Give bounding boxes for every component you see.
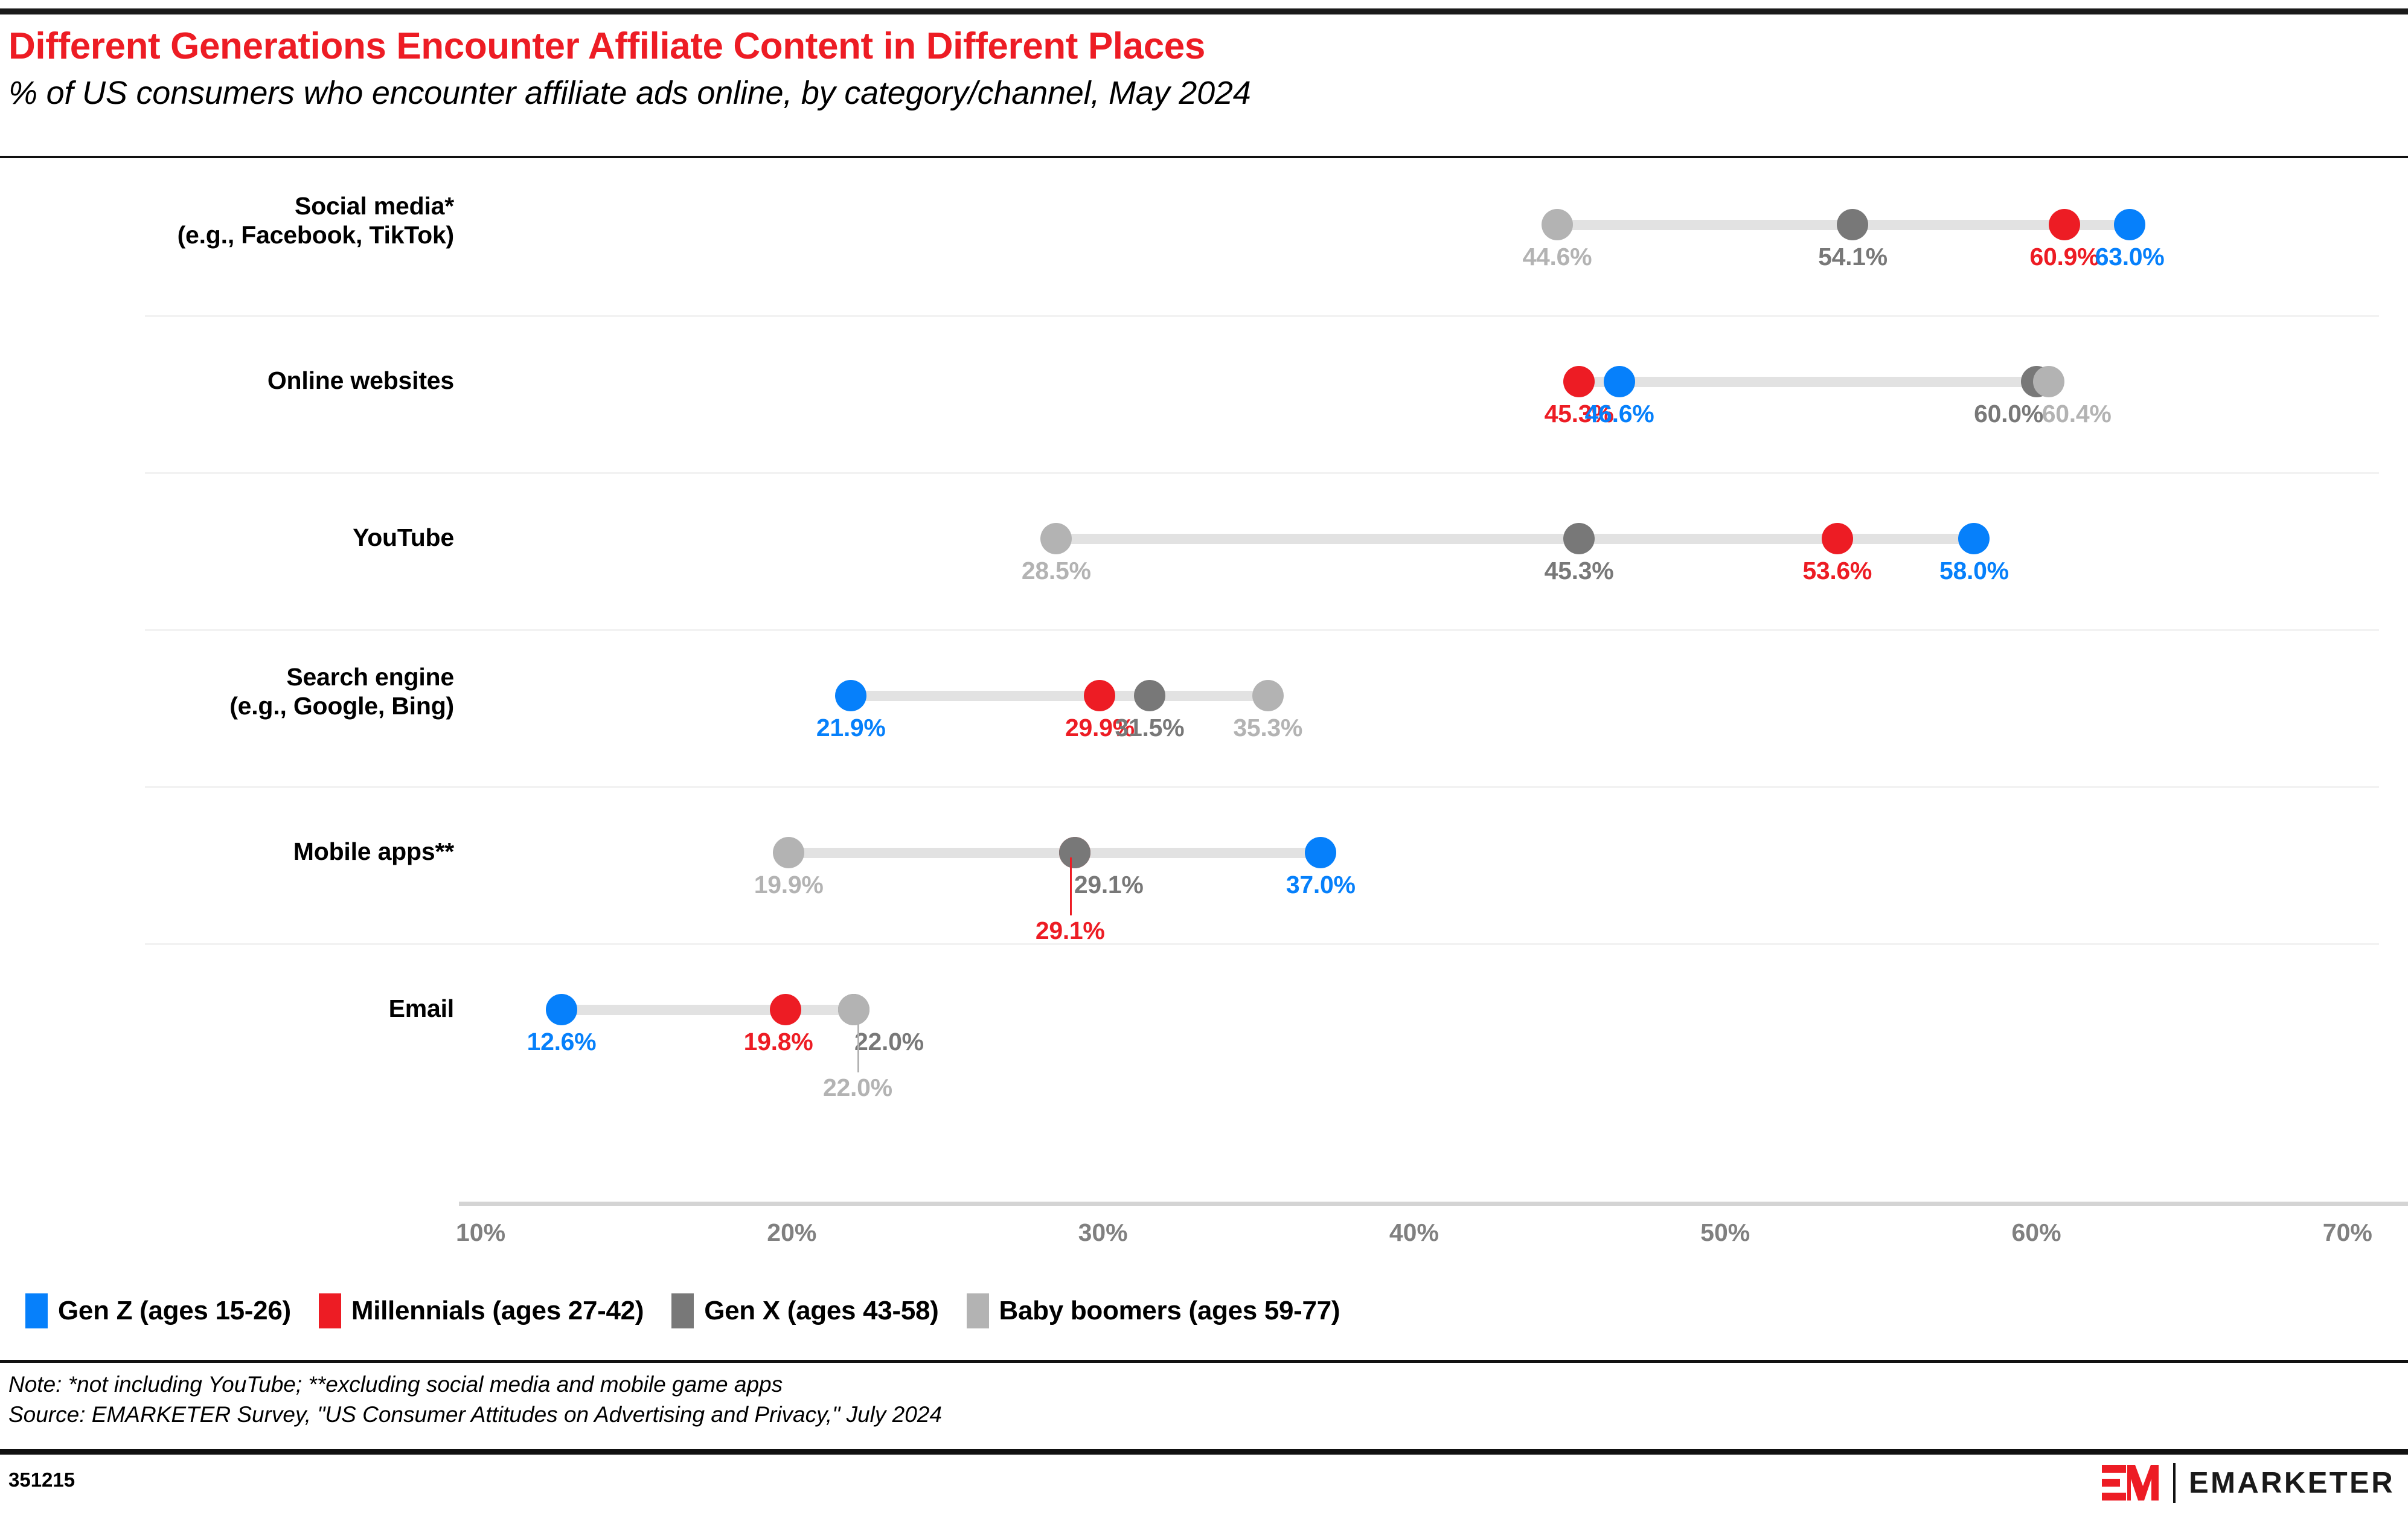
chart-row: Online websites45.3%46.6%60.0%60.4% xyxy=(0,315,2408,472)
data-point-genx[interactable] xyxy=(1059,837,1090,868)
category-label-line1: YouTube xyxy=(0,523,454,552)
value-label-boomer: 44.6% xyxy=(1523,243,1592,271)
value-label-boomer: 22.0% xyxy=(823,1074,892,1102)
row-separator xyxy=(145,943,2379,945)
value-label-mill: 53.6% xyxy=(1802,557,1872,585)
row-separator xyxy=(145,629,2379,631)
data-point-genz[interactable] xyxy=(835,680,866,711)
value-label-boomer: 19.9% xyxy=(754,871,824,899)
legend-label: Millennials (ages 27-42) xyxy=(351,1296,644,1326)
data-point-genz[interactable] xyxy=(2114,209,2145,240)
legend-swatch-icon xyxy=(25,1293,48,1328)
x-axis-line xyxy=(459,1202,2408,1206)
footnote-source: Source: EMARKETER Survey, "US Consumer A… xyxy=(8,1400,942,1430)
data-point-mill[interactable] xyxy=(1563,366,1595,397)
range-connector xyxy=(789,848,1321,858)
value-label-genx: 31.5% xyxy=(1115,714,1185,742)
footnote-note: Note: *not including YouTube; **excludin… xyxy=(8,1369,942,1400)
value-label-genz: 63.0% xyxy=(2095,243,2165,271)
data-point-boomer[interactable] xyxy=(1542,209,1573,240)
data-point-genx[interactable] xyxy=(1837,209,1868,240)
legend-label: Gen Z (ages 15-26) xyxy=(58,1296,291,1326)
legend-item-boomer[interactable]: Baby boomers (ages 59-77) xyxy=(967,1293,1340,1328)
data-point-boomer[interactable] xyxy=(2033,366,2064,397)
value-label-genz: 46.6% xyxy=(1585,400,1654,428)
value-label-genz: 58.0% xyxy=(1939,557,2009,585)
em-monogram-icon xyxy=(2102,1463,2160,1503)
data-point-genz[interactable] xyxy=(1305,837,1336,868)
value-leader-line xyxy=(857,1014,859,1072)
chart-title: Different Generations Encounter Affiliat… xyxy=(8,27,2363,67)
value-label-mill: 29.1% xyxy=(1036,917,1105,945)
category-label-line1: Email xyxy=(0,994,454,1023)
row-separator xyxy=(145,472,2379,474)
chart-legend: Gen Z (ages 15-26)Millennials (ages 27-4… xyxy=(25,1293,1340,1328)
data-point-boomer[interactable] xyxy=(838,994,869,1025)
category-label-line2: (e.g., Google, Bing) xyxy=(0,691,454,720)
value-label-boomer: 35.3% xyxy=(1233,714,1302,742)
brand-wordmark: EMARKETER xyxy=(2189,1466,2395,1500)
value-label-boomer: 60.4% xyxy=(2042,400,2112,428)
top-rule xyxy=(0,8,2408,14)
value-label-genx: 22.0% xyxy=(854,1028,924,1056)
x-axis-tick-label: 40% xyxy=(1389,1219,1439,1247)
value-label-mill: 19.8% xyxy=(744,1028,813,1056)
x-axis-tick-label: 60% xyxy=(2011,1219,2061,1247)
value-label-genz: 21.9% xyxy=(816,714,886,742)
x-axis-tick-label: 10% xyxy=(456,1219,505,1247)
data-point-mill[interactable] xyxy=(770,994,801,1025)
legend-label: Baby boomers (ages 59-77) xyxy=(999,1296,1340,1326)
category-label: Mobile apps** xyxy=(0,837,454,866)
legend-swatch-icon xyxy=(319,1293,341,1328)
legend-item-mill[interactable]: Millennials (ages 27-42) xyxy=(319,1293,644,1328)
data-point-mill[interactable] xyxy=(1084,680,1115,711)
chart-id: 351215 xyxy=(8,1469,75,1491)
chart-row: Email12.6%19.8%22.0%22.0% xyxy=(0,943,2408,1100)
category-label-line1: Search engine xyxy=(0,662,454,691)
value-label-genx: 54.1% xyxy=(1818,243,1888,271)
logo-divider xyxy=(2173,1463,2176,1503)
x-axis-tick-label: 70% xyxy=(2323,1219,2372,1247)
x-axis-tick-label: 30% xyxy=(1078,1219,1128,1247)
range-connector xyxy=(562,1005,854,1015)
value-label-genz: 12.6% xyxy=(527,1028,597,1056)
data-point-boomer[interactable] xyxy=(773,837,804,868)
data-point-genz[interactable] xyxy=(546,994,577,1025)
footnotes: Note: *not including YouTube; **excludin… xyxy=(8,1369,942,1430)
emarketer-logo: EMARKETER xyxy=(2102,1463,2395,1503)
category-label: Social media*(e.g., Facebook, TikTok) xyxy=(0,191,454,250)
value-label-genx: 60.0% xyxy=(1974,400,2043,428)
value-label-mill: 60.9% xyxy=(2029,243,2099,271)
data-point-genx[interactable] xyxy=(1563,523,1595,554)
category-label-line1: Social media* xyxy=(0,191,454,220)
data-point-boomer[interactable] xyxy=(1252,680,1284,711)
value-label-genz: 37.0% xyxy=(1286,871,1356,899)
chart-row: Social media*(e.g., Facebook, TikTok)44.… xyxy=(0,158,2408,315)
row-separator xyxy=(145,786,2379,788)
plot-area: Social media*(e.g., Facebook, TikTok)44.… xyxy=(0,158,2408,1212)
category-label: YouTube xyxy=(0,523,454,552)
data-point-boomer[interactable] xyxy=(1040,523,1072,554)
category-label: Email xyxy=(0,994,454,1023)
legend-swatch-icon xyxy=(671,1293,694,1328)
chart-row: Mobile apps**19.9%29.1%29.1%37.0% xyxy=(0,786,2408,943)
data-point-genz[interactable] xyxy=(1604,366,1635,397)
value-label-boomer: 28.5% xyxy=(1022,557,1091,585)
chart-sheet: Different Generations Encounter Affiliat… xyxy=(0,0,2408,1515)
value-leader-line xyxy=(1070,857,1072,915)
bottom-divider xyxy=(0,1449,2408,1455)
value-label-genx: 29.1% xyxy=(1074,871,1144,899)
legend-item-genx[interactable]: Gen X (ages 43-58) xyxy=(671,1293,938,1328)
data-point-mill[interactable] xyxy=(1822,523,1853,554)
legend-swatch-icon xyxy=(967,1293,989,1328)
range-connector xyxy=(1579,377,2049,387)
value-label-genx: 45.3% xyxy=(1545,557,1614,585)
chart-header: Different Generations Encounter Affiliat… xyxy=(8,27,2363,111)
data-point-genx[interactable] xyxy=(1134,680,1165,711)
category-label: Online websites xyxy=(0,366,454,395)
data-point-mill[interactable] xyxy=(2049,209,2080,240)
category-label-line1: Mobile apps** xyxy=(0,837,454,866)
row-separator xyxy=(145,315,2379,317)
x-axis-tick-label: 20% xyxy=(767,1219,816,1247)
category-label-line1: Online websites xyxy=(0,366,454,395)
footer-divider xyxy=(0,1360,2408,1363)
chart-row: YouTube28.5%45.3%53.6%58.0% xyxy=(0,472,2408,629)
legend-item-genz[interactable]: Gen Z (ages 15-26) xyxy=(25,1293,291,1328)
data-point-genz[interactable] xyxy=(1958,523,1990,554)
category-label-line2: (e.g., Facebook, TikTok) xyxy=(0,220,454,249)
chart-row: Search engine(e.g., Google, Bing)21.9%29… xyxy=(0,629,2408,786)
x-axis-tick-label: 50% xyxy=(1700,1219,1750,1247)
legend-label: Gen X (ages 43-58) xyxy=(704,1296,938,1326)
range-connector xyxy=(851,691,1268,701)
chart-subtitle: % of US consumers who encounter affiliat… xyxy=(8,75,2363,111)
category-label: Search engine(e.g., Google, Bing) xyxy=(0,662,454,721)
